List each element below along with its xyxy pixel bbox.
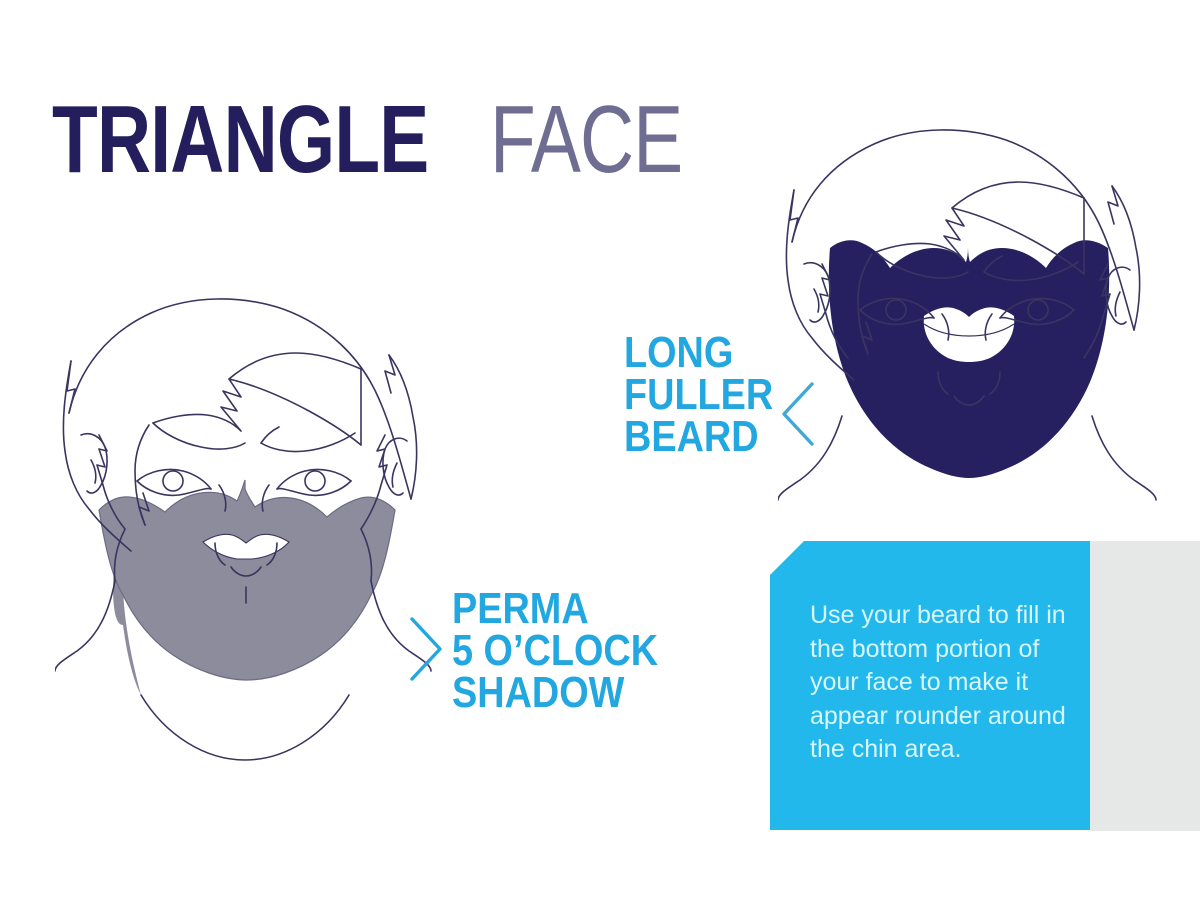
callout-box: Use your beard to fill in the bottom por… [770,541,1090,830]
chevron-right-icon [406,613,450,685]
page-title: TRIANGLE [52,92,428,188]
infographic-canvas: TRIANGLE FACE [0,0,1200,900]
callout-side-band [1090,541,1200,831]
label-perma-line-2: 5 O’CLOCK [452,630,658,672]
left-face-illustration [55,295,435,825]
label-long-fuller-beard: LONG FULLER BEARD [624,332,773,459]
label-perma-shadow: PERMA 5 O’CLOCK SHADOW [452,588,658,715]
label-long-line-2: FULLER [624,374,773,416]
label-perma-line-1: PERMA [452,588,658,630]
label-perma-line-3: SHADOW [452,672,658,714]
label-long-line-1: LONG [624,332,773,374]
callout-text: Use your beard to fill in the bottom por… [810,599,1078,767]
chevron-left-icon [776,378,820,450]
page-title-secondary-wrap: FACE [490,92,682,188]
page-title-primary: TRIANGLE [52,86,428,193]
page-title-secondary: FACE [490,86,682,193]
label-long-line-3: BEARD [624,416,773,458]
right-face-illustration [778,128,1158,548]
stubble-beard-main [99,480,395,680]
